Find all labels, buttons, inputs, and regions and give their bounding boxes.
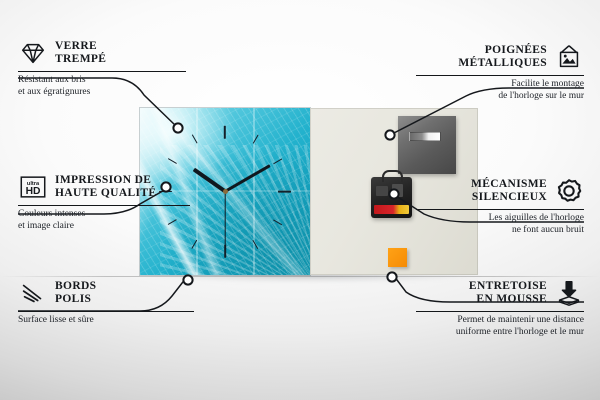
feature-title: IMPRESSION DE HAUTE QUALITÉ <box>55 174 156 200</box>
mechanism-loop <box>382 170 403 182</box>
clock-mechanism <box>371 177 412 218</box>
hanger-slot <box>409 132 441 141</box>
foam-spacer <box>388 248 407 267</box>
feature-rule <box>18 71 186 72</box>
feature-header: MÉCANISME SILENCIEUX <box>416 176 584 206</box>
feature-title: ENTRETOISE EN MOUSSE <box>469 280 547 306</box>
gear-icon <box>554 176 584 206</box>
feature-header: BORDS POLIS <box>18 278 194 308</box>
feature-entretoise-mousse: ENTRETOISE EN MOUSSE Permet de maintenir… <box>416 278 584 338</box>
diamond-icon <box>18 38 48 68</box>
feature-header: VERRE TREMPÉ <box>18 38 186 68</box>
feature-title: MÉCANISME SILENCIEUX <box>471 178 547 204</box>
clock-second-hand <box>224 191 225 249</box>
mechanism-detail-1 <box>376 186 388 196</box>
ultra-hd-icon: ultra HD <box>18 172 48 202</box>
feature-subtitle: Permet de maintenir une distance uniform… <box>416 315 584 338</box>
battery <box>374 205 409 214</box>
feature-rule <box>18 205 190 206</box>
feature-poignees-metalliques: POIGNÉES MÉTALLIQUES Facilite le montage… <box>416 42 584 102</box>
feature-rule <box>18 311 194 312</box>
feature-subtitle: Surface lisse et sûre <box>18 315 194 327</box>
feature-header: ultra HD IMPRESSION DE HAUTE QUALITÉ <box>18 172 190 202</box>
product-infographic: VERRE TREMPÉ Résistant aux bris et aux é… <box>0 0 600 400</box>
feature-subtitle: Les aiguilles de l'horloge ne font aucun… <box>416 213 584 236</box>
feature-title: BORDS POLIS <box>55 280 96 306</box>
polished-edges-icon <box>18 278 48 308</box>
feature-subtitle: Facilite le montage de l'horloge sur le … <box>416 79 584 102</box>
picture-hanger-icon <box>554 42 584 72</box>
foam-spacer-icon <box>554 278 584 308</box>
ultra-hd-icon-large: HD <box>26 186 41 197</box>
feature-header: POIGNÉES MÉTALLIQUES <box>416 42 584 72</box>
feature-title: VERRE TREMPÉ <box>55 40 106 66</box>
feature-rule <box>416 209 584 210</box>
mechanism-detail-2 <box>392 184 403 197</box>
feature-subtitle: Résistant aux bris et aux égratignures <box>18 75 186 98</box>
metal-hanger-plate <box>398 116 456 174</box>
feature-rule <box>416 311 584 312</box>
clock-hub <box>223 189 228 194</box>
feature-title: POIGNÉES MÉTALLIQUES <box>458 44 547 70</box>
feature-mecanisme-silencieux: MÉCANISME SILENCIEUX Les aiguilles de l'… <box>416 176 584 236</box>
feature-bords-polis: BORDS POLIS Surface lisse et sûre <box>18 278 194 327</box>
feature-rule <box>416 75 584 76</box>
feature-header: ENTRETOISE EN MOUSSE <box>416 278 584 308</box>
feature-verre-trempe: VERRE TREMPÉ Résistant aux bris et aux é… <box>18 38 186 98</box>
clock-tick <box>278 191 291 193</box>
clock-tick <box>224 125 226 138</box>
feature-impression-hd: ultra HD IMPRESSION DE HAUTE QUALITÉ Cou… <box>18 172 190 232</box>
feature-subtitle: Couleurs intenses et image claire <box>18 209 190 232</box>
